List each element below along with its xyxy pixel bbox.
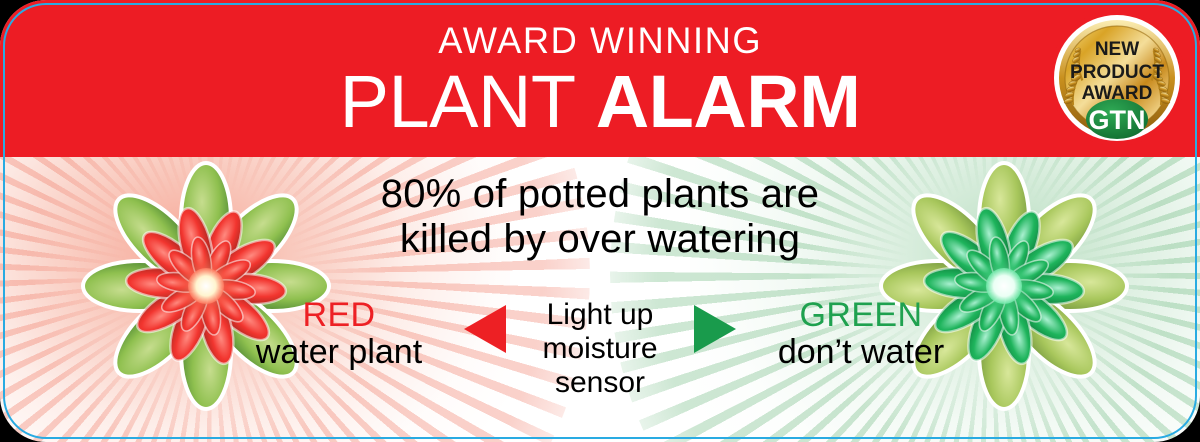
legend-green-column: GREEN don’t water <box>746 298 976 370</box>
left-triangle-icon <box>464 305 506 353</box>
badge-line-2: PRODUCT <box>1070 62 1164 83</box>
header-text-block: AWARD WINNING PLANT ALARM <box>0 0 1200 157</box>
headline-line-2: killed by over watering <box>0 217 1200 262</box>
title-word-alarm: ALARM <box>596 60 861 143</box>
legend-red-word: RED <box>303 298 376 333</box>
legend-green-word: GREEN <box>800 298 923 333</box>
legend-row: RED water plant Light up moisture sensor… <box>0 298 1200 408</box>
sensor-line-1: Light up <box>547 298 654 332</box>
sensor-line-3: sensor <box>555 366 645 400</box>
title-word-plant: PLANT <box>340 60 576 143</box>
red-arrow-wrap <box>454 298 516 353</box>
legend-green-subtext: don’t water <box>778 334 944 371</box>
badge-org: GTN <box>1089 105 1146 135</box>
banner-card: AWARD WINNING PLANT ALARM <box>0 0 1200 442</box>
sensor-line-2: moisture <box>542 332 657 366</box>
plant-alarm-banner: AWARD WINNING PLANT ALARM <box>0 0 1200 442</box>
green-arrow-wrap <box>684 298 746 353</box>
award-badge: NEW PRODUCT AWARD GTN <box>1048 9 1186 147</box>
headline-block: 80% of potted plants are killed by over … <box>0 172 1200 262</box>
legend-center-column: Light up moisture sensor <box>516 298 684 401</box>
legend-red-subtext: water plant <box>256 334 422 371</box>
kicker-award-winning: AWARD WINNING <box>438 22 762 59</box>
right-triangle-icon <box>694 305 736 353</box>
headline-line-1: 80% of potted plants are <box>0 172 1200 217</box>
page-title: PLANT ALARM <box>340 65 861 139</box>
legend-red-column: RED water plant <box>224 298 454 370</box>
badge-line-1: NEW <box>1095 39 1139 60</box>
red-header-band: AWARD WINNING PLANT ALARM <box>0 0 1200 157</box>
